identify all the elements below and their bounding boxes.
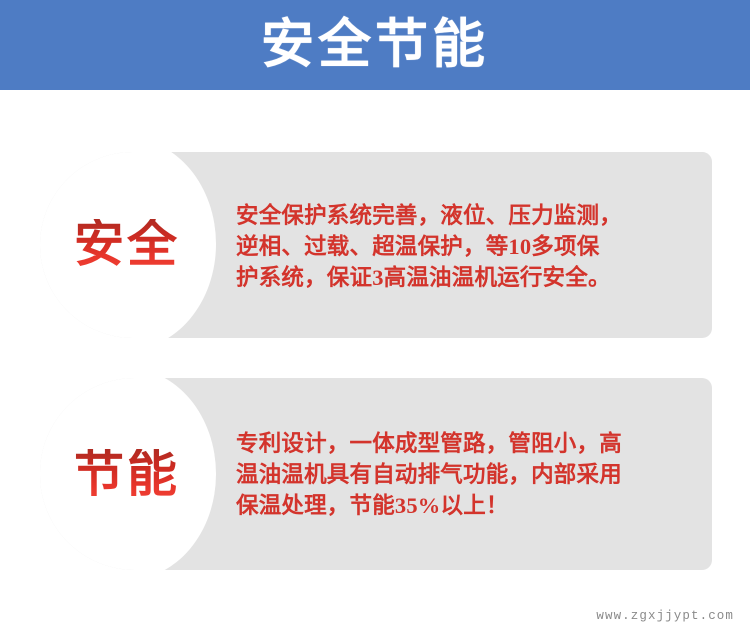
footer-watermark: www.zgxjjypt.com xyxy=(596,609,734,623)
feature-card-energy-saving: 节能 专利设计，一体成型管路，管阻小，高 温油温机具有自动排气功能，内部采用 保… xyxy=(40,378,712,570)
page-title: 安全节能 xyxy=(261,19,489,72)
body-line: 护系统，保证3高温油温机运行安全。 xyxy=(236,262,698,293)
body-line: 专利设计，一体成型管路，管阻小，高 xyxy=(236,428,698,459)
body-line: 逆相、过载、超温保护，等10多项保 xyxy=(236,231,698,262)
body-line: 保温处理，节能35%以上！ xyxy=(236,490,698,521)
feature-card-energy-saving-body: 专利设计，一体成型管路，管阻小，高 温油温机具有自动排气功能，内部采用 保温处理… xyxy=(236,378,698,570)
badge-ellipse-safety: 安全 xyxy=(40,152,216,338)
body-line: 温油温机具有自动排气功能，内部采用 xyxy=(236,459,698,490)
badge-ellipse-energy-saving: 节能 xyxy=(40,378,216,570)
body-line: 安全保护系统完善，液位、压力监测， xyxy=(236,200,698,231)
feature-card-safety-body: 安全保护系统完善，液位、压力监测， 逆相、过载、超温保护，等10多项保 护系统，… xyxy=(236,152,698,338)
header-banner: 安全节能 xyxy=(0,0,750,90)
badge-label-energy-saving: 节能 xyxy=(74,449,180,499)
feature-card-safety: 安全 安全保护系统完善，液位、压力监测， 逆相、过载、超温保护，等10多项保 护… xyxy=(40,152,712,338)
badge-label-safety: 安全 xyxy=(74,219,180,269)
